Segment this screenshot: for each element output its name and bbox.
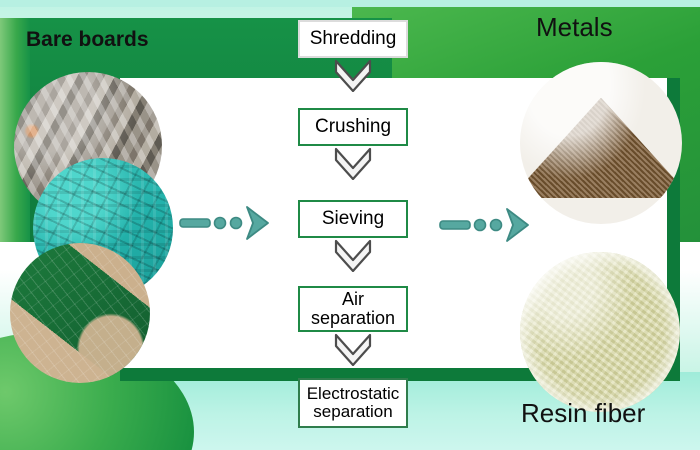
flow-step-crushing[interactable]: Crushing [298,108,408,146]
flow-step-shredding[interactable]: Shredding [298,20,408,58]
flow-step-electrostatic-separation[interactable]: Electrostatic separation [298,378,408,428]
resin-fiber-powder-photo [520,252,680,412]
flow-step-label: Crushing [315,117,391,137]
flow-step-label-line1: Electrostatic [307,384,400,403]
flow-step-label-line1: Air [342,289,364,309]
flow-step-label-line2: separation [311,308,395,328]
flow-step-label: Sieving [322,209,384,229]
flow-step-label: Air separation [311,290,395,328]
chevron-down-icon [333,238,373,272]
flow-step-label-line2: separation [313,402,392,421]
flow-step-label: Electrostatic separation [307,385,400,421]
flow-step-air-separation[interactable]: Air separation [298,286,408,332]
flow-step-sieving[interactable]: Sieving [298,200,408,238]
diagram-canvas: Bare boards Metals Resin fiber Shredding… [0,0,700,450]
green-pcb-pieces-photo [10,243,150,383]
dashed-arrow-right-icon [178,206,270,240]
metal-powder-photo [520,62,682,224]
chevron-down-icon [333,146,373,180]
dashed-arrow-right-icon [438,208,530,242]
top-mint-strip [0,0,700,7]
flow-step-label: Shredding [310,29,397,49]
output-label-resin: Resin fiber [521,398,645,429]
chevron-down-icon [333,58,373,92]
output-label-metals: Metals [536,12,613,43]
chevron-down-icon [333,332,373,366]
input-label: Bare boards [26,28,149,52]
